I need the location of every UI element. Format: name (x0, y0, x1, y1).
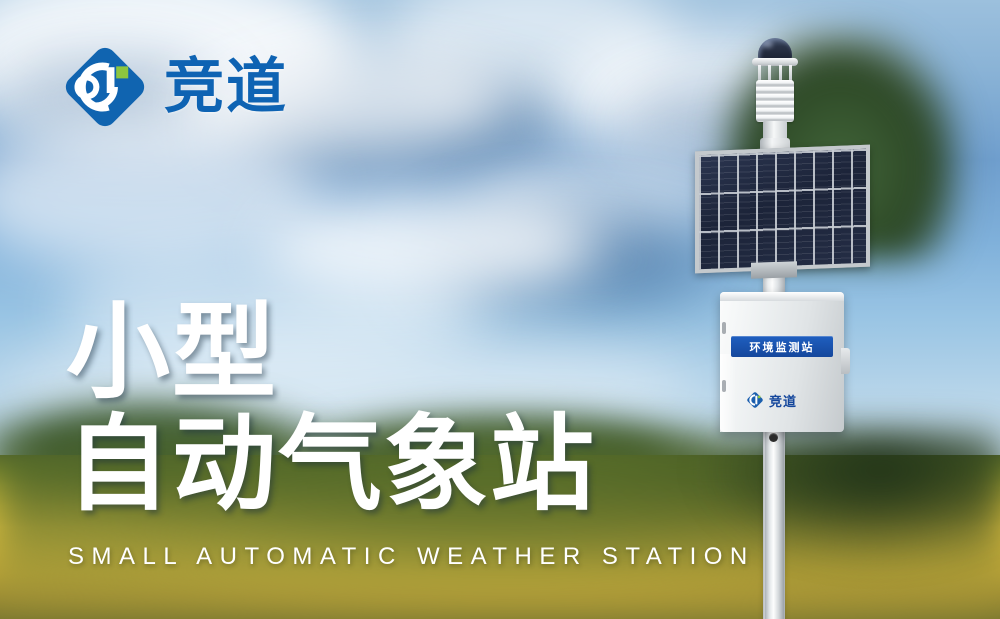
control-box-latch (841, 348, 850, 374)
solar-panel-bracket (751, 261, 797, 279)
pole-mast-icon (765, 430, 784, 619)
control-box: 环境监测站 竞道 (720, 292, 844, 432)
control-box-banner-text: 环境监测站 (750, 339, 815, 355)
solar-panel-icon (695, 145, 870, 274)
brand-name: 竞道 (164, 57, 288, 117)
headline-line-1: 小型 (66, 296, 596, 408)
weather-station-rig: 环境监测站 竞道 (655, 30, 895, 619)
brand-logo[interactable]: 竞道 (62, 44, 288, 130)
control-box-vent (722, 322, 726, 334)
ultrasonic-weather-sensor-icon (750, 38, 800, 156)
mast-bolt (769, 433, 778, 442)
control-box-brand-text: 竞道 (769, 391, 797, 410)
control-box-vent (722, 380, 726, 392)
solar-cells (699, 149, 866, 269)
control-box-lid (720, 292, 844, 301)
product-banner: 环境监测站 竞道 (0, 0, 1000, 619)
sensor-dome-icon (758, 38, 792, 60)
radiation-shield-icon (756, 80, 794, 122)
headline-subtitle: SMALL AUTOMATIC WEATHER STATION (68, 543, 755, 571)
sensor-arms (758, 65, 792, 81)
headline-line-2: 自动气象站 (66, 408, 596, 520)
page-title: 小型 自动气象站 (66, 296, 596, 520)
control-box-brand: 竞道 (746, 390, 822, 410)
jingdao-diamond-logo-icon (746, 391, 764, 409)
jingdao-diamond-logo-icon (62, 44, 148, 130)
control-box-highlight (720, 354, 736, 432)
control-box-banner: 环境监测站 (731, 336, 833, 357)
